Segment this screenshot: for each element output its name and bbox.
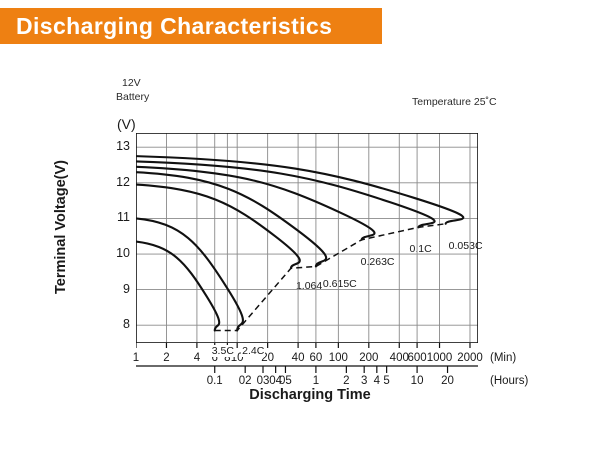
x-tick-hr-4: 4: [374, 375, 380, 387]
x-tick-hr-0p3: 03: [257, 375, 270, 387]
x-tick-min-40: 40: [292, 352, 305, 364]
y-axis-unit: (V): [117, 116, 136, 132]
temperature-annotation: Temperature 25˚C: [412, 96, 497, 108]
y-tick-11: 11: [106, 210, 130, 224]
x-tick-min-1: 1: [133, 352, 139, 364]
y-axis-title: Terminal Voltage(V): [53, 137, 69, 317]
page-title: Discharging Characteristics: [0, 13, 332, 40]
hours-unit-label: (Hours): [490, 375, 528, 387]
x-tick-min-400: 400: [390, 352, 409, 364]
minutes-unit-label: (Min): [490, 352, 516, 364]
x-tick-hr-1: 1: [313, 375, 319, 387]
x-tick-min-100: 100: [329, 352, 348, 364]
x-tick-hr-0p1: 0.1: [207, 375, 223, 387]
curve-label-2p4C: 2.4C: [241, 345, 265, 357]
x-tick-hr-20: 20: [441, 375, 454, 387]
y-tick-9: 9: [106, 282, 130, 296]
x-tick-hr-5: 5: [383, 375, 389, 387]
curve-label-3p5C: 3.5C: [211, 345, 235, 357]
x-tick-min-4: 4: [194, 352, 200, 364]
battery-label-line2: Battery: [116, 91, 149, 103]
battery-label-line1: 12V: [122, 77, 141, 89]
x-tick-min-1000: 1000: [427, 352, 453, 364]
y-tick-13: 13: [106, 139, 130, 153]
header-banner: Discharging Characteristics: [0, 8, 382, 44]
discharging-characteristics-chart: 12V Battery Temperature 25˚C (V) Termina…: [0, 44, 600, 451]
y-tick-12: 12: [106, 175, 130, 189]
x-tick-hr-3: 3: [361, 375, 367, 387]
plot-area: [136, 133, 478, 343]
x-tick-hr-0p2: 02: [239, 375, 252, 387]
x-tick-hr-10: 10: [411, 375, 424, 387]
y-tick-10: 10: [106, 246, 130, 260]
x-tick-min-600: 600: [407, 352, 426, 364]
x-tick-min-200: 200: [359, 352, 378, 364]
x-tick-hr-0p5: 05: [279, 375, 292, 387]
x-tick-min-2: 2: [163, 352, 169, 364]
x-tick-min-60: 60: [310, 352, 323, 364]
y-tick-8: 8: [106, 317, 130, 331]
x-tick-hr-2: 2: [343, 375, 349, 387]
x-tick-min-2000: 2000: [457, 352, 483, 364]
x-axis-title: Discharging Time: [185, 387, 435, 403]
